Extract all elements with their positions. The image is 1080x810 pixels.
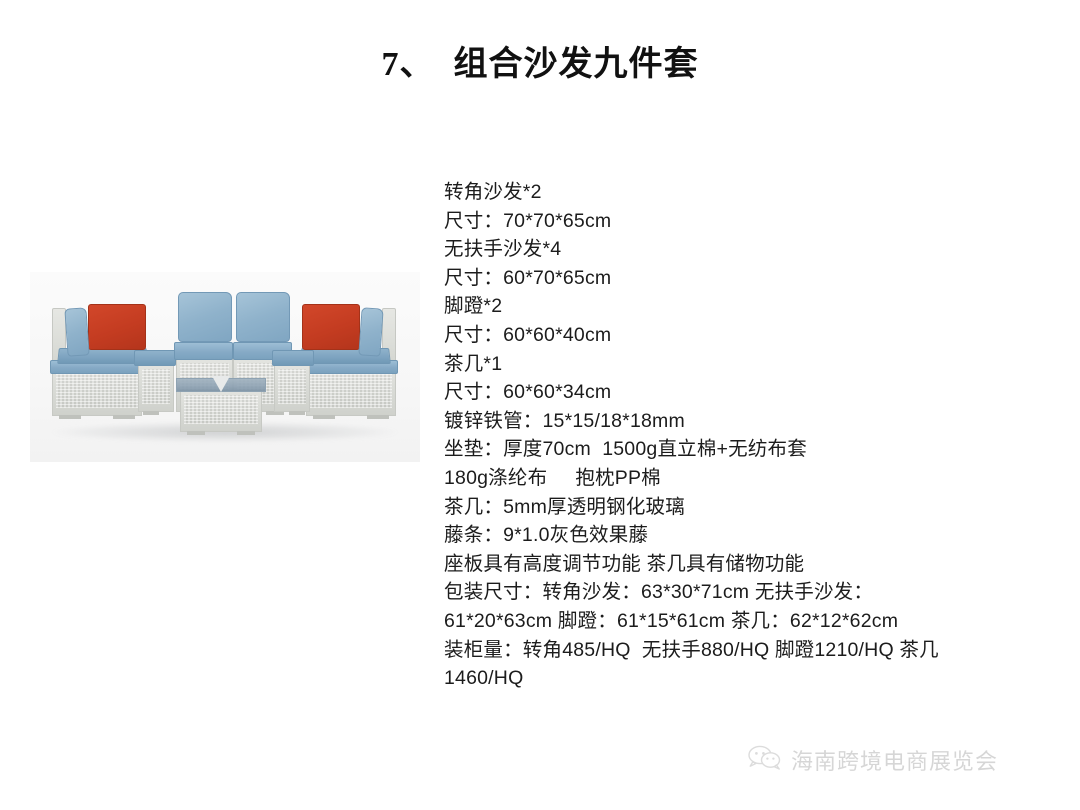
right-corner-foot — [367, 415, 389, 419]
right-corner-base — [306, 368, 396, 416]
coffee-table-foot — [187, 431, 205, 435]
spec-line: 藤条：9*1.0灰色效果藤 — [444, 521, 1044, 550]
spec-line: 180g涤纶布 抱枕PP棉 — [444, 464, 1044, 493]
right-corner-foot — [313, 415, 335, 419]
left-ottoman-foot — [143, 411, 159, 415]
left-red-back-pillow — [88, 304, 146, 350]
spec-line: 尺寸：60*70*65cm — [444, 264, 1044, 293]
spec-line: 装柜量：转角485/HQ 无扶手880/HQ 脚蹬1210/HQ 茶几 — [444, 636, 1044, 665]
spec-line: 61*20*63cm 脚蹬：61*15*61cm 茶几：62*12*62cm — [444, 607, 1044, 636]
watermark-label: 海南跨境电商展览会 — [791, 744, 998, 776]
right-blue-side-pillow — [358, 307, 383, 356]
right-ottoman-cushion — [272, 350, 314, 366]
page-title: 7、 组合沙发九件套 — [0, 36, 1080, 85]
spec-line: 座板具有高度调节功能 茶几具有储物功能 — [444, 550, 1044, 579]
spec-line: 转角沙发*2 — [444, 178, 1044, 207]
coffee-table-foot — [237, 431, 255, 435]
left-blue-side-pillow — [64, 307, 89, 356]
spec-line: 包装尺寸：转角沙发：63*30*71cm 无扶手沙发： — [444, 578, 1044, 607]
coffee-table-base — [180, 390, 262, 432]
left-ottoman-cushion — [134, 350, 176, 366]
spec-line: 脚蹬*2 — [444, 292, 1044, 321]
product-image — [30, 272, 420, 462]
spec-line: 无扶手沙发*4 — [444, 235, 1044, 264]
left-corner-foot — [113, 415, 135, 419]
spec-line: 尺寸：60*60*34cm — [444, 378, 1044, 407]
wechat-icon — [748, 745, 782, 776]
center-seat-cushion-left — [174, 342, 233, 360]
left-ottoman-base — [138, 364, 174, 412]
watermark: 海南跨境电商展览会 — [748, 744, 998, 776]
glass-reflection — [212, 376, 230, 392]
right-red-back-pillow — [302, 304, 360, 350]
spec-line: 1460/HQ — [444, 664, 1044, 693]
center-back-pillow-left — [178, 292, 232, 342]
spec-line: 尺寸：70*70*65cm — [444, 207, 1044, 236]
left-corner-base — [52, 368, 142, 416]
right-ottoman-foot — [289, 411, 305, 415]
center-back-pillow-right — [236, 292, 290, 342]
spec-line: 镀锌铁管：15*15/18*18mm — [444, 407, 1044, 436]
spec-line: 坐垫：厚度70cm 1500g直立棉+无纺布套 — [444, 435, 1044, 464]
right-ottoman-base — [274, 364, 310, 412]
spec-line: 茶几*1 — [444, 350, 1044, 379]
spec-line: 茶几：5mm厚透明钢化玻璃 — [444, 493, 1044, 522]
left-corner-foot — [59, 415, 81, 419]
spec-line: 尺寸：60*60*40cm — [444, 321, 1044, 350]
spec-text-block: 转角沙发*2 尺寸：70*70*65cm 无扶手沙发*4 尺寸：60*70*65… — [444, 178, 1044, 693]
